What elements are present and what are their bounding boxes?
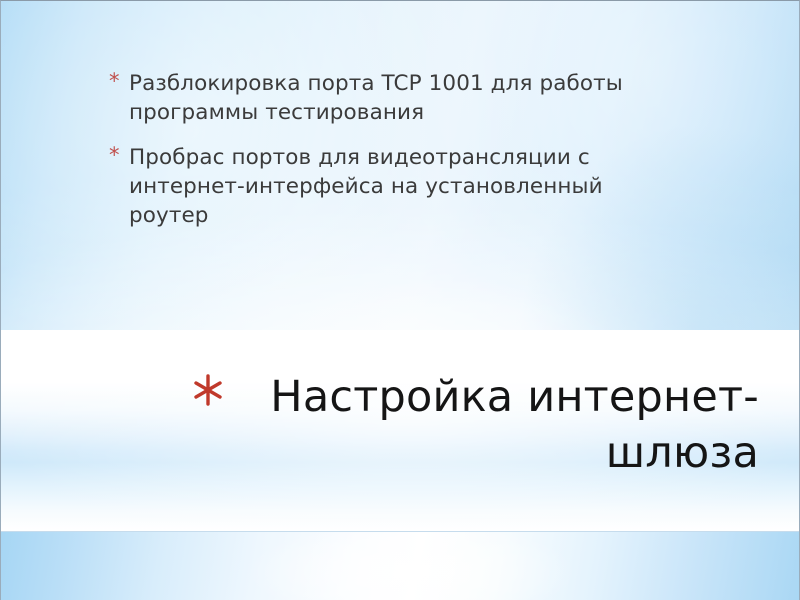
asterisk-star-icon [191, 373, 225, 407]
asterisk-bullet-icon: * [109, 67, 120, 96]
list-item-text: Пробрас портов для видеотрансляции с инт… [129, 145, 603, 228]
presentation-slide: * Разблокировка порта TCP 1001 для работ… [0, 0, 800, 600]
list-item: * Разблокировка порта TCP 1001 для работ… [109, 69, 669, 127]
page-title: Настройка интернет- шлюза [191, 369, 759, 481]
page-title-line-1: Настройка интернет- [191, 369, 759, 425]
slide-footer-band [1, 531, 800, 600]
list-item: * Пробрас портов для видеотрансляции с и… [109, 143, 669, 230]
bullet-list: * Разблокировка порта TCP 1001 для работ… [109, 69, 669, 230]
page-title-line-2: шлюза [191, 425, 759, 481]
background-sheen-footer [181, 531, 641, 600]
list-item-text: Разблокировка порта TCP 1001 для работы … [129, 71, 623, 125]
asterisk-bullet-icon: * [109, 141, 120, 170]
slide-content-panel: * Разблокировка порта TCP 1001 для работ… [1, 1, 800, 330]
